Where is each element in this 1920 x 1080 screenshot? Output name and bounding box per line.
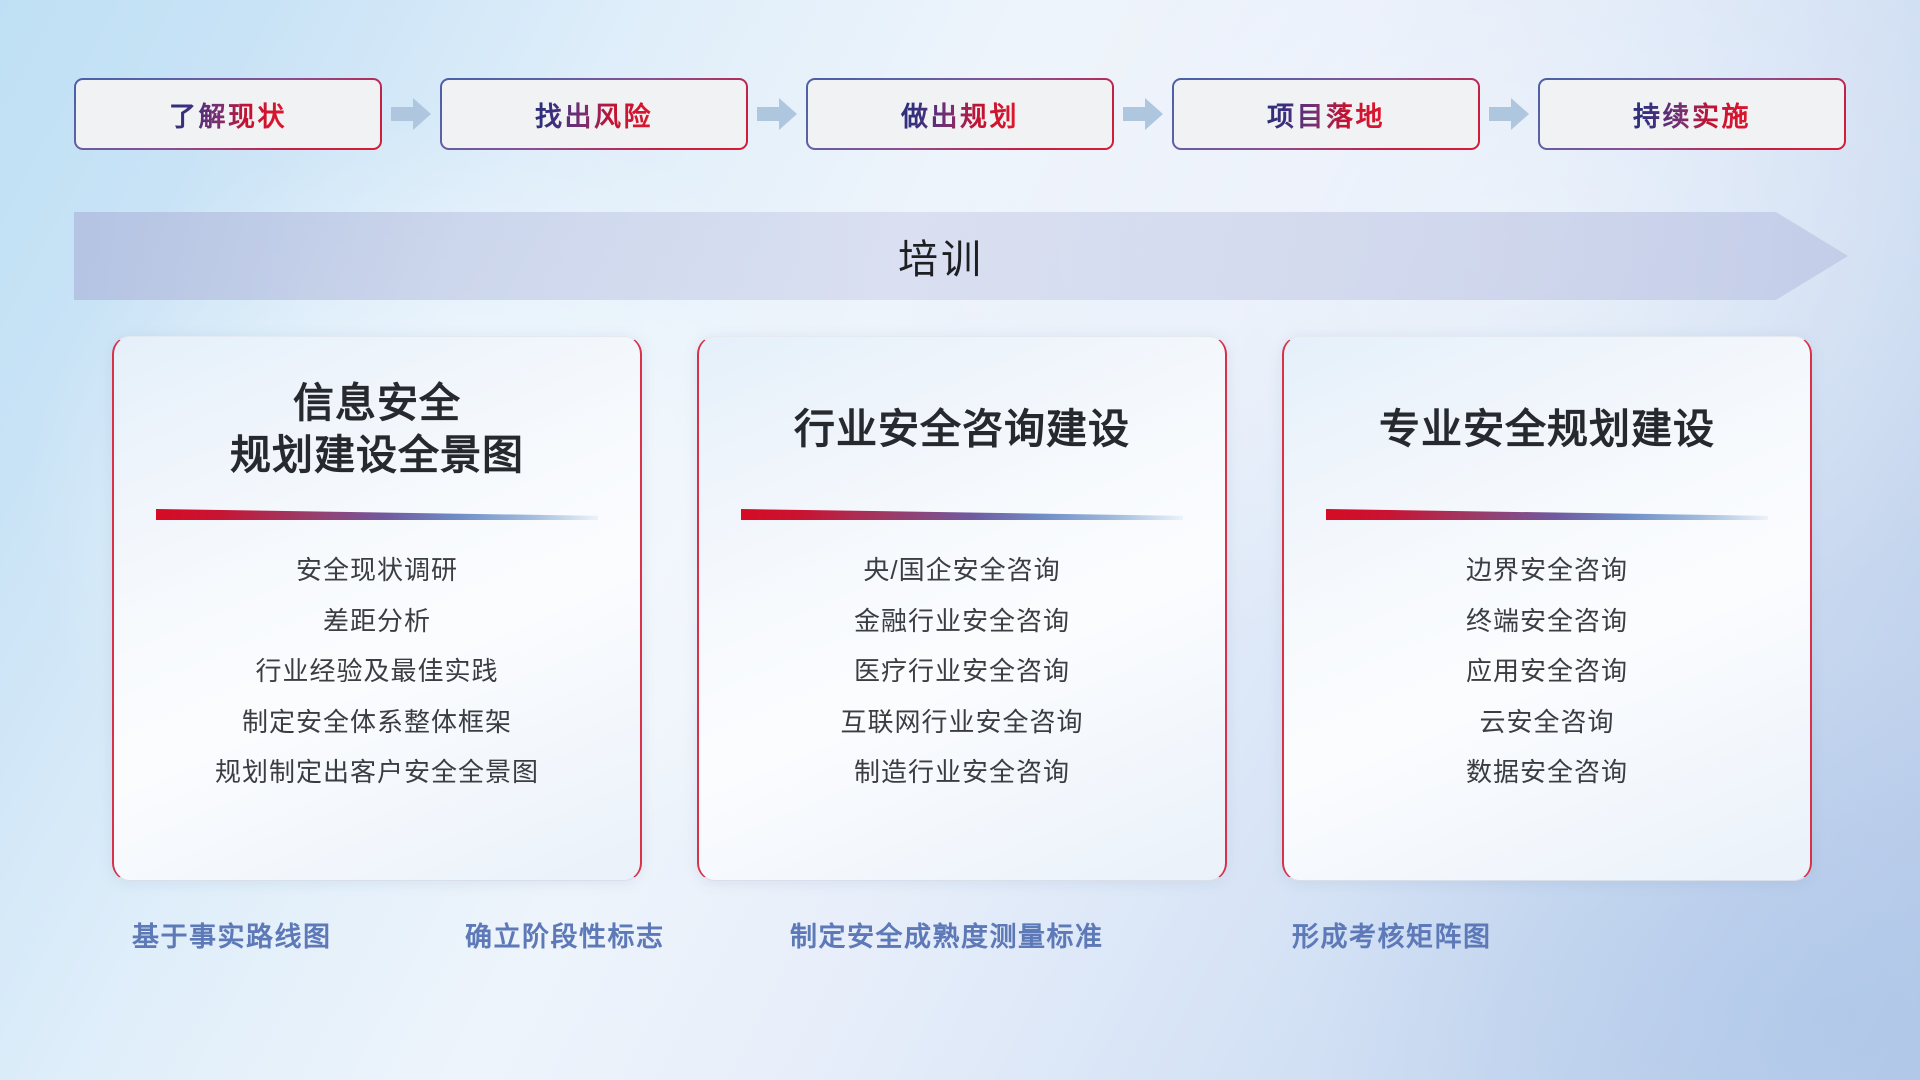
process-step-label: 了解现状 xyxy=(169,95,287,134)
list-item[interactable]: 医疗行业安全咨询 xyxy=(854,655,1070,688)
outcome-label-4: 形成考核矩阵图 xyxy=(1292,915,1492,954)
process-step-4[interactable]: 项目落地 xyxy=(1172,78,1480,150)
list-item[interactable]: 制定安全体系整体框架 xyxy=(242,706,512,739)
process-step-2[interactable]: 找出风险 xyxy=(440,78,748,150)
service-card-divider xyxy=(1326,509,1768,520)
service-card-list: 边界安全咨询终端安全咨询应用安全咨询云安全咨询数据安全咨询 xyxy=(1308,554,1786,789)
list-item[interactable]: 规划制定出客户安全全景图 xyxy=(215,756,539,789)
list-item[interactable]: 应用安全咨询 xyxy=(1466,655,1628,688)
service-card-divider xyxy=(741,509,1183,520)
right-block-arrow-icon xyxy=(382,92,440,136)
training-banner: 培训 xyxy=(74,212,1848,300)
training-banner-title: 培训 xyxy=(74,212,1848,300)
service-card-row: 信息安全规划建设全景图安全现状调研差距分析行业经验及最佳实践制定安全体系整体框架… xyxy=(112,336,1812,881)
list-item[interactable]: 互联网行业安全咨询 xyxy=(840,706,1083,739)
process-step-label: 找出风险 xyxy=(535,95,653,134)
service-card-title-line: 专业安全规划建设 xyxy=(1308,403,1786,455)
list-item[interactable]: 央/国企安全咨询 xyxy=(863,554,1060,587)
outcome-label-row: 基于事实路线图确立阶段性标志制定安全成熟度测量标准形成考核矩阵图 xyxy=(0,915,1920,963)
service-card-divider xyxy=(156,509,598,520)
service-card-2[interactable]: 行业安全咨询建设央/国企安全咨询金融行业安全咨询医疗行业安全咨询互联网行业安全咨… xyxy=(697,336,1227,881)
process-step-label: 持续实施 xyxy=(1633,95,1751,134)
process-step-5[interactable]: 持续实施 xyxy=(1538,78,1846,150)
list-item[interactable]: 行业经验及最佳实践 xyxy=(255,655,498,688)
service-card-title-line: 行业安全咨询建设 xyxy=(723,403,1201,455)
process-step-row: 了解现状找出风险做出规划项目落地持续实施 xyxy=(74,78,1849,150)
list-item[interactable]: 金融行业安全咨询 xyxy=(854,605,1070,638)
process-step-1[interactable]: 了解现状 xyxy=(74,78,382,150)
service-card-title: 专业安全规划建设 xyxy=(1308,371,1786,487)
list-item[interactable]: 制造行业安全咨询 xyxy=(854,756,1070,789)
slide-canvas: 了解现状找出风险做出规划项目落地持续实施 培训 信息安全规划建设全景图安全现状调… xyxy=(0,0,1920,1080)
list-item[interactable]: 边界安全咨询 xyxy=(1466,554,1628,587)
service-card-list: 央/国企安全咨询金融行业安全咨询医疗行业安全咨询互联网行业安全咨询制造行业安全咨… xyxy=(723,554,1201,789)
list-item[interactable]: 云安全咨询 xyxy=(1479,706,1614,739)
service-card-title-line: 信息安全 xyxy=(138,377,616,429)
service-card-title: 行业安全咨询建设 xyxy=(723,371,1201,487)
list-item[interactable]: 安全现状调研 xyxy=(296,554,458,587)
service-card-title: 信息安全规划建设全景图 xyxy=(138,371,616,487)
outcome-label-1: 基于事实路线图 xyxy=(132,915,332,954)
process-step-3[interactable]: 做出规划 xyxy=(806,78,1114,150)
list-item[interactable]: 终端安全咨询 xyxy=(1466,605,1628,638)
outcome-label-2: 确立阶段性标志 xyxy=(465,915,665,954)
service-card-title-line: 规划建设全景图 xyxy=(138,429,616,481)
service-card-1[interactable]: 信息安全规划建设全景图安全现状调研差距分析行业经验及最佳实践制定安全体系整体框架… xyxy=(112,336,642,881)
process-step-label: 做出规划 xyxy=(901,95,1019,134)
process-step-label: 项目落地 xyxy=(1267,95,1385,134)
list-item[interactable]: 数据安全咨询 xyxy=(1466,756,1628,789)
right-block-arrow-icon xyxy=(1114,92,1172,136)
list-item[interactable]: 差距分析 xyxy=(323,605,431,638)
right-block-arrow-icon xyxy=(748,92,806,136)
service-card-3[interactable]: 专业安全规划建设边界安全咨询终端安全咨询应用安全咨询云安全咨询数据安全咨询 xyxy=(1282,336,1812,881)
service-card-list: 安全现状调研差距分析行业经验及最佳实践制定安全体系整体框架规划制定出客户安全全景… xyxy=(138,554,616,789)
right-block-arrow-icon xyxy=(1480,92,1538,136)
outcome-label-3: 制定安全成熟度测量标准 xyxy=(790,915,1104,954)
